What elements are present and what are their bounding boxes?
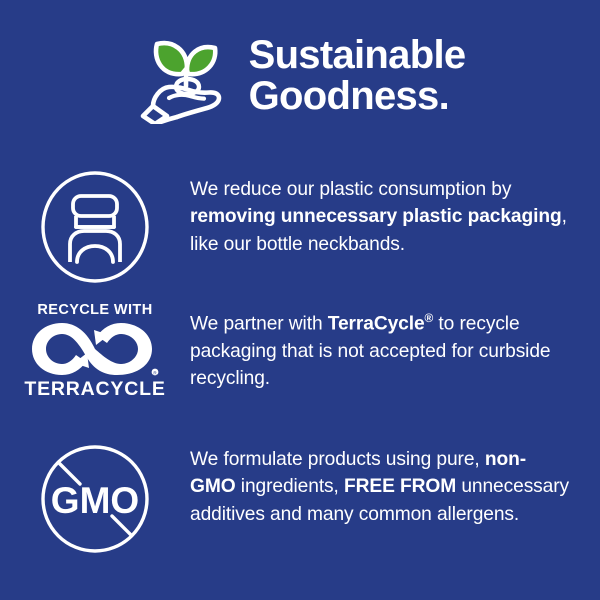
- page-title: Sustainable Goodness.: [249, 35, 466, 117]
- section-text-plastic-reduction: We reduce our plastic consumption by rem…: [190, 168, 584, 258]
- plastic-bottle-in-circle-icon: [36, 168, 154, 286]
- no-gmo-icon: GMO: [36, 440, 154, 558]
- terracycle-wordmark: TERRACYCLE: [24, 380, 165, 400]
- section-plastic-reduction: We reduce our plastic consumption by rem…: [0, 168, 600, 286]
- section-text-terracycle: We partner with TerraCycle® to recycle p…: [190, 303, 584, 392]
- section-terracycle: RECYCLE WITH R TERRACYCLE: [0, 303, 600, 399]
- infinity-arrows-icon: R: [28, 320, 162, 378]
- section-icon-wrap: [0, 168, 190, 286]
- header: Sustainable Goodness.: [0, 28, 600, 124]
- section-icon-wrap: RECYCLE WITH R TERRACYCLE: [0, 303, 190, 399]
- gmo-icon-label: GMO: [51, 480, 139, 521]
- terracycle-logo: RECYCLE WITH R TERRACYCLE: [27, 303, 163, 399]
- sustainable-goodness-infographic: Sustainable Goodness. We reduce ou: [0, 0, 600, 600]
- section-non-gmo: GMO We formulate products using pure, no…: [0, 440, 600, 558]
- section-text-non-gmo: We formulate products using pure, non-GM…: [190, 440, 584, 528]
- section-icon-wrap: GMO: [0, 440, 190, 558]
- hand-holding-sprout-icon: [135, 28, 235, 124]
- terracycle-tagline: RECYCLE WITH: [37, 303, 152, 318]
